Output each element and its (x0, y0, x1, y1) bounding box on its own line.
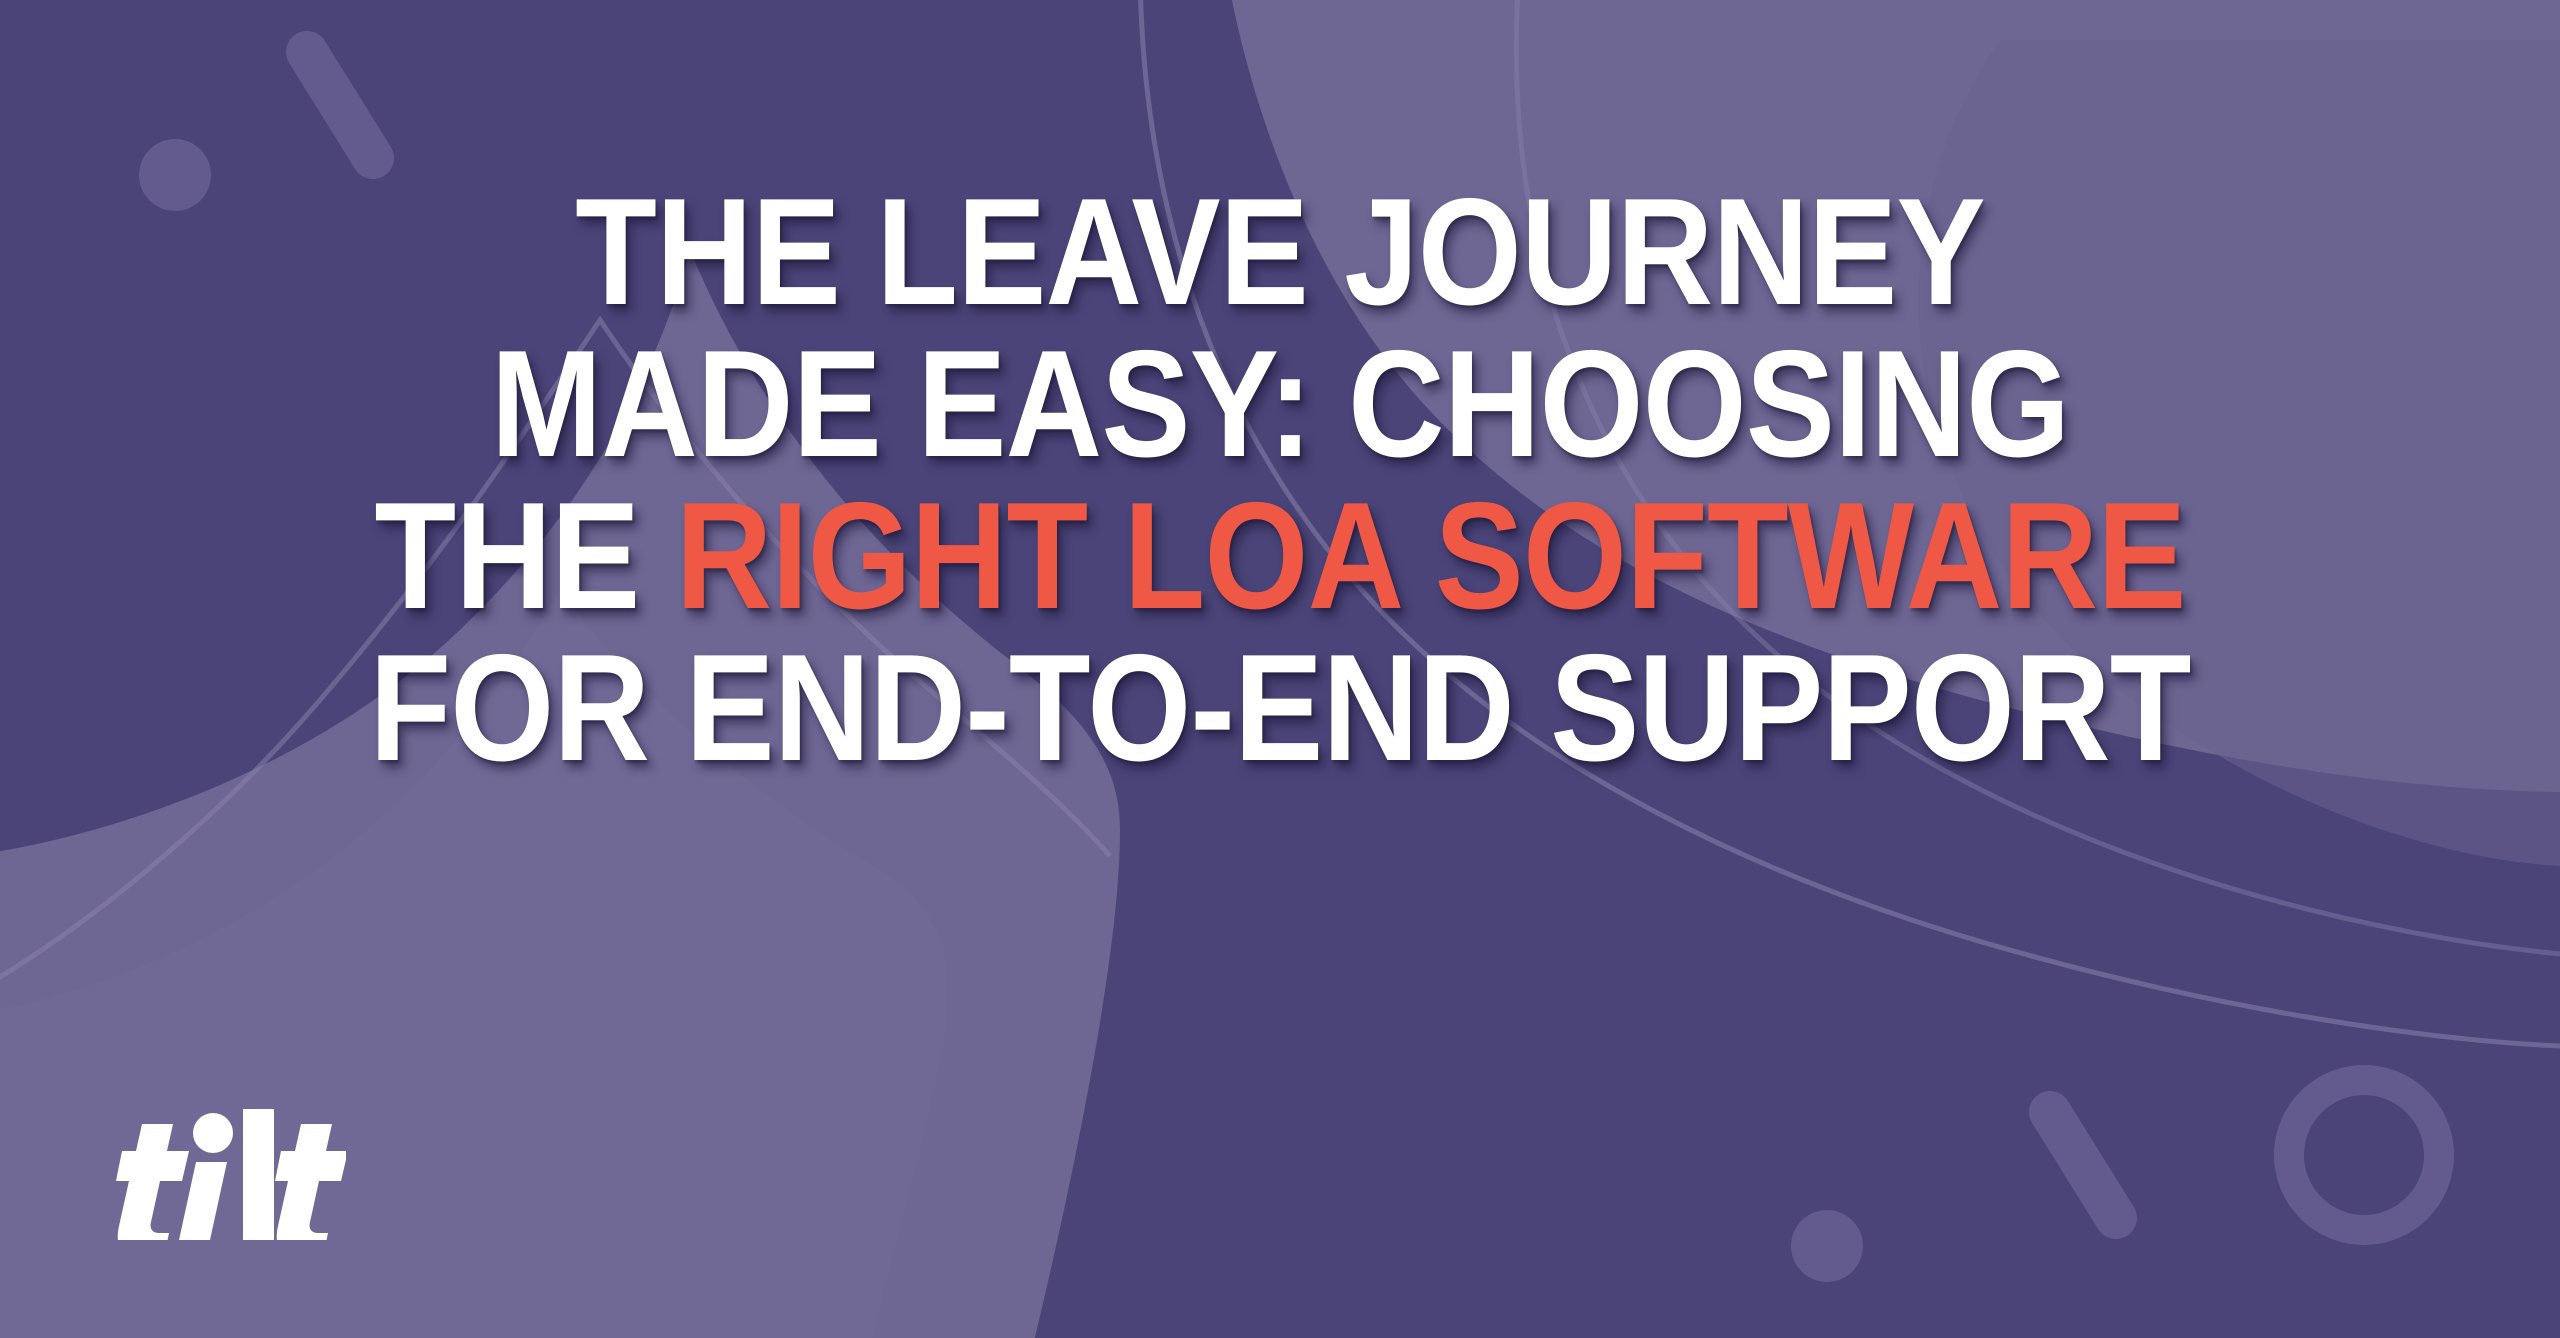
headline-line-4: FOR END-TO-END SUPPORT (154, 632, 2407, 784)
headline-line-3-accent: RIGHT LOA SOFTWARE (676, 471, 2186, 641)
tilt-logo[interactable]: tilt (96, 1105, 346, 1240)
dot-bottom-right (1791, 1210, 1863, 1282)
headline-line-1: THE LEAVE JOURNEY (154, 176, 2407, 328)
headline-line-3: THE RIGHT LOA SOFTWARE (154, 480, 2407, 632)
tilt-wordmark-icon (96, 1105, 346, 1240)
headline-line-2: MADE EASY: CHOOSING (154, 328, 2407, 480)
headline-block: THE LEAVE JOURNEY MADE EASY: CHOOSING TH… (0, 176, 2560, 784)
banner-canvas: THE LEAVE JOURNEY MADE EASY: CHOOSING TH… (0, 0, 2560, 1338)
headline-line-3-white: THE (374, 471, 675, 641)
